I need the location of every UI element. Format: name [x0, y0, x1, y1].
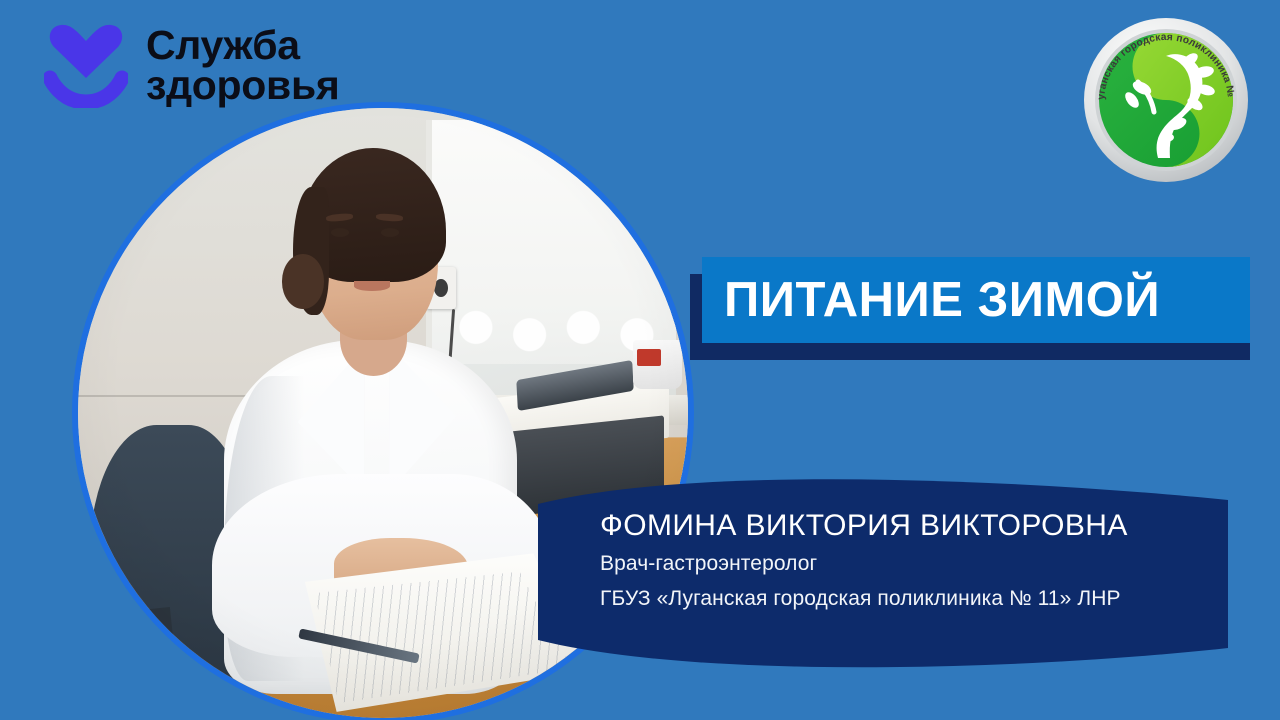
brand-wordmark: Служба здоровья — [146, 25, 339, 105]
speaker-name-ribbon: ФОМИНА ВИКТОРИЯ ВИКТОРОВНА Врач-гастроэн… — [528, 470, 1232, 670]
poster-slide: Служба здоровья — [0, 0, 1280, 720]
speaker-role: Врач-гастроэнтеролог — [600, 549, 1200, 579]
speaker-organization: ГБУЗ «Луганская городская поликлиника № … — [600, 584, 1200, 614]
title-banner: ПИТАНИЕ ЗИМОЙ — [702, 257, 1250, 343]
page-title: ПИТАНИЕ ЗИМОЙ — [702, 276, 1160, 325]
brand-line-1: Служба — [146, 25, 339, 65]
speaker-name: ФОМИНА ВИКТОРИЯ ВИКТОРОВНА — [600, 508, 1200, 544]
brand-logo: Служба здоровья — [44, 22, 339, 108]
heart-smile-icon — [44, 22, 128, 108]
brand-line-2: здоровья — [146, 65, 339, 105]
clinic-tree-emblem: ГБУЗ «Луганская городская поликлиника № … — [1082, 16, 1250, 184]
speaker-details: ФОМИНА ВИКТОРИЯ ВИКТОРОВНА Врач-гастроэн… — [600, 508, 1200, 614]
